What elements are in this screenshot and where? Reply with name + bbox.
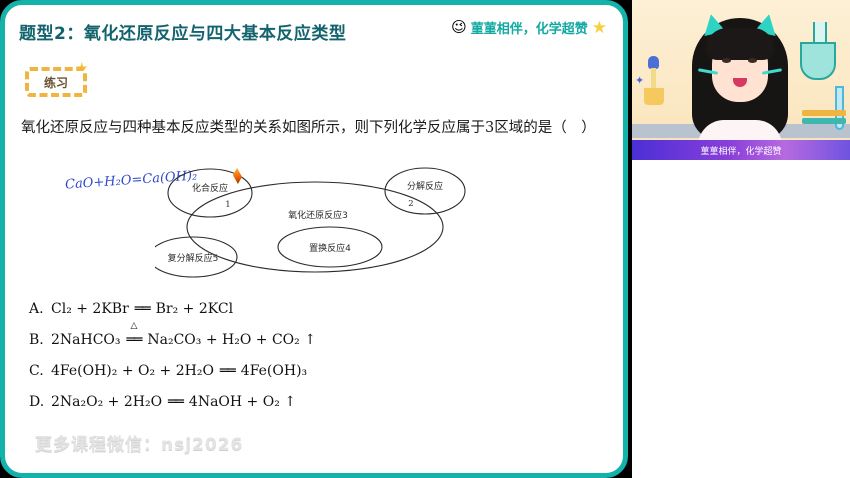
practice-badge-label: 练习 (44, 74, 68, 91)
page-title: 题型2：氧化还原反应与四大基本反应类型 (19, 19, 346, 44)
wink-face-icon: 😉 (451, 20, 467, 35)
venn-diagram: CaO+H₂O=Ca(OH)₂ 化合反应 1 分解反应 2 氧化还原反应3 置换… (5, 165, 628, 285)
venn-label-decomposition: 分解反应 (407, 180, 443, 192)
eye-right (748, 58, 757, 63)
option-row-b[interactable]: B. 2NaHCO₃ △ ══ Na₂CO₃ + H₂O + CO₂ ↑ (29, 332, 589, 363)
option-row-a[interactable]: A. Cl₂ + 2KBr ══ Br₂ + 2KCl (29, 301, 589, 332)
equals-sign-d: ══ (162, 394, 189, 410)
option-row-c[interactable]: C. 4Fe(OH)₂ + O₂ + 2H₂O ══ 4Fe(OH)₃ (29, 363, 589, 394)
equals-sign-c: ══ (214, 363, 241, 379)
equals-c: ══ (214, 363, 241, 379)
teacher-avatar (688, 12, 792, 138)
option-right-b: Na₂CO₃ + H₂O + CO₂ ↑ (147, 332, 316, 348)
venn-number-2: 2 (408, 199, 413, 209)
slide-header: 题型2：氧化还原反应与四大基本反应类型 😉 菫菫相伴，化学超赞 ★ (5, 5, 623, 55)
venn-label-displacement: 置换反应4 (309, 242, 351, 254)
equals-sign-b: ══ (121, 332, 148, 348)
star-icon: ★ (592, 19, 607, 36)
option-row-d[interactable]: D. 2Na₂O₂ + 2H₂O ══ 4NaOH + O₂ ↑ (29, 394, 589, 425)
video-banner-text: 菫菫相伴，化学超赞 (700, 144, 781, 157)
venn-label-redox: 氧化还原反应3 (288, 209, 348, 221)
book-stack-bottom-icon (802, 118, 846, 124)
flask-icon (800, 22, 836, 80)
bangs (706, 28, 774, 60)
venn-label-combination: 化合反应 (192, 182, 228, 194)
brand-text: 菫菫相伴，化学超赞 (471, 18, 588, 37)
option-right-d: 4NaOH + O₂ ↑ (189, 394, 296, 410)
option-left-c: 4Fe(OH)₂ + O₂ + 2H₂O (51, 363, 214, 379)
slide-card: 题型2：氧化还原反应与四大基本反应类型 😉 菫菫相伴，化学超赞 ★ ★ 练习 氧… (0, 0, 628, 478)
option-key-d: D. (29, 394, 51, 410)
option-right-c: 4Fe(OH)₃ (241, 363, 307, 379)
option-left-b: 2NaHCO₃ (51, 332, 121, 348)
question-text: 氧化还原反应与四种基本反应类型的关系如图所示，则下列化学反应属于3区域的是（ ） (21, 113, 611, 143)
option-left-a: Cl₂ + 2KBr (51, 301, 129, 317)
book-stack-top-icon (802, 110, 846, 116)
practice-badge: 练习 (25, 67, 87, 97)
equals-d: ══ (162, 394, 189, 410)
venn-label-metathesis: 复分解反应5 (168, 252, 219, 264)
eye-left (722, 58, 731, 63)
sparkle-icon: ✦ (635, 74, 644, 87)
option-key-b: B. (29, 332, 51, 348)
venn-number-1: 1 (225, 200, 230, 210)
condition-b: △ (130, 321, 137, 331)
brand-badge: 😉 菫菫相伴，化学超赞 ★ (451, 18, 607, 37)
equals-sign-a: ══ (129, 301, 156, 317)
flask-body (800, 42, 836, 80)
video-name-banner: 菫菫相伴，化学超赞 (632, 140, 850, 160)
watermark: 更多课程微信：nsj2026 (35, 430, 243, 455)
option-key-c: C. (29, 363, 51, 379)
option-left-d: 2Na₂O₂ + 2H₂O (51, 394, 162, 410)
option-right-a: Br₂ + 2KCl (156, 301, 233, 317)
dropper-icon (646, 56, 660, 104)
beaker-icon (644, 88, 664, 105)
side-panel-blank (632, 160, 850, 478)
venn-ellipse-redox (187, 182, 443, 272)
option-key-a: A. (29, 301, 51, 317)
options-list: A. Cl₂ + 2KBr ══ Br₂ + 2KCl B. 2NaHCO₃ △… (29, 301, 589, 425)
screen-root: 题型2：氧化还原反应与四大基本反应类型 😉 菫菫相伴，化学超赞 ★ ★ 练习 氧… (0, 0, 850, 478)
equals-a: ══ (129, 301, 156, 317)
venn-svg: 化合反应 1 分解反应 2 氧化还原反应3 置换反应4 复分解反应5 (155, 165, 475, 285)
dropper-tube (651, 68, 656, 88)
teacher-video-panel[interactable]: ✦ 菫菫相伴，化学超赞 (632, 0, 850, 160)
equals-b: △ ══ (121, 332, 148, 348)
